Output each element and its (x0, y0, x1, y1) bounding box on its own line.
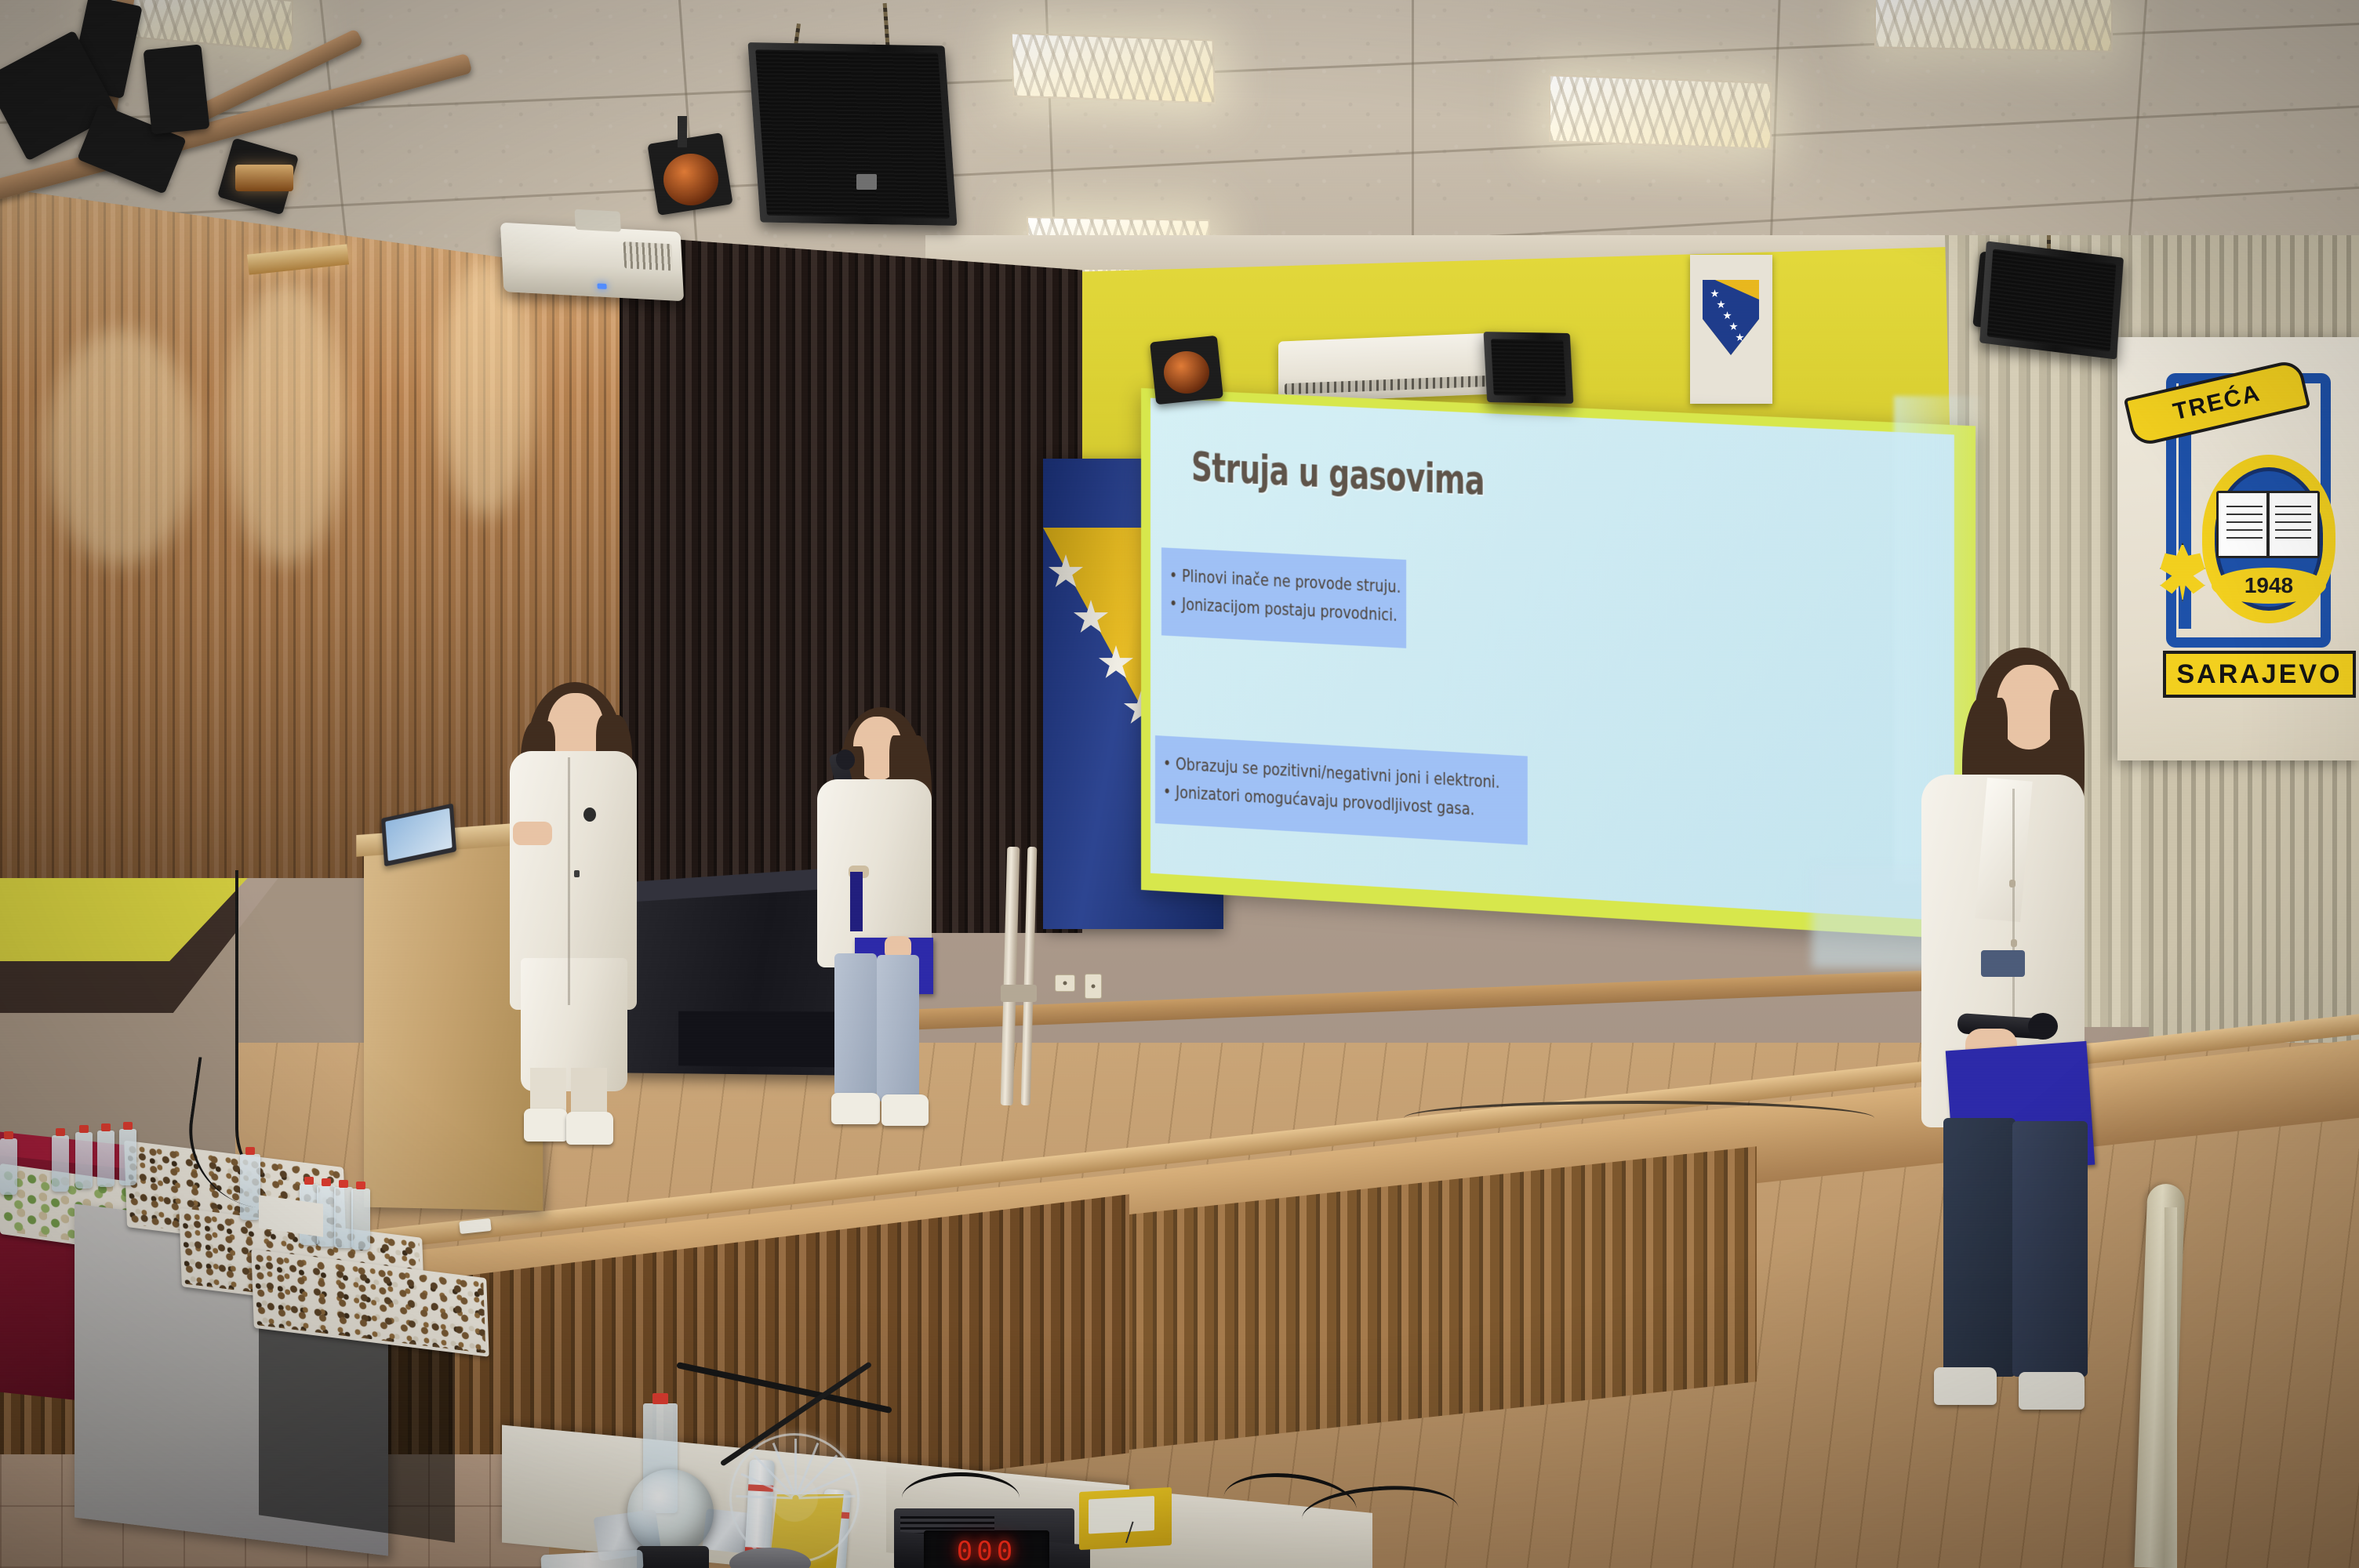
coat-button (2011, 939, 2017, 947)
wimshurst-disc (729, 1433, 860, 1563)
cable-bundle (902, 1472, 1020, 1523)
plasma-ball (627, 1469, 714, 1555)
slide-title: Struja u gasovima (1191, 444, 1711, 516)
book-icon (2216, 491, 2320, 558)
par-can-lens (1164, 351, 1209, 394)
projector-power-led (597, 283, 606, 289)
shoe (524, 1109, 568, 1142)
coat-button (2009, 880, 2016, 887)
coat-pocket-pen (583, 808, 596, 822)
ceiling-speaker (1484, 332, 1574, 404)
water-bottle (334, 1187, 353, 1248)
floor-cable (1404, 1101, 1874, 1135)
ceiling-light-panel (1874, 0, 2113, 53)
slide-bullet: • Plinovi inače ne provode struju. (1169, 567, 1348, 595)
air-conditioner-unit (1278, 332, 1498, 402)
ceiling-speaker (1979, 241, 2124, 359)
presenter-center (808, 704, 1012, 1143)
speaker-logo (856, 174, 877, 190)
shoe (2019, 1372, 2085, 1410)
led-digital-display: 000 (924, 1530, 1049, 1568)
par-can-light (144, 44, 210, 134)
slide-bullet-block-2: • Obrazuju se pozitivni/negativni joni i… (1155, 735, 1528, 845)
jeans (834, 953, 877, 1099)
water-bottle (52, 1135, 69, 1192)
emblem-year: 1948 (2212, 568, 2326, 604)
slide-bullet: • Jonizatori omogućavaju provodljivost g… (1163, 783, 1444, 818)
analog-meter (1079, 1487, 1172, 1550)
water-bottle (119, 1129, 136, 1185)
coat-seam (568, 757, 570, 1005)
coat-button (574, 870, 580, 877)
water-bottle (0, 1138, 17, 1195)
hand (513, 822, 552, 845)
bosnia-coat-of-arms-banner (1690, 255, 1772, 404)
ceiling-light-panel (1549, 74, 1772, 150)
shoe (1934, 1367, 1997, 1405)
ceiling-projector (500, 223, 684, 301)
water-bottle (75, 1132, 93, 1189)
wall-outlet (1055, 975, 1075, 992)
par-can-lens (663, 154, 718, 205)
led-display-value: 000 (924, 1530, 1049, 1568)
emblem-namebar: SARAJEVO (2163, 651, 2356, 698)
jeans (877, 955, 919, 1102)
plasma-ball-base (637, 1546, 709, 1568)
ceiling-light-panel (1011, 32, 1216, 103)
shoe (566, 1112, 613, 1145)
presenter-right (1827, 648, 2078, 1439)
folder-tucked (850, 872, 863, 931)
par-can-lens (235, 165, 293, 191)
jeans-dark (2012, 1121, 2088, 1377)
slide-bullet-block-1: • Plinovi inače ne provode struju. • Jon… (1161, 547, 1406, 648)
slide-bullet: • Jonizacijom postaju provodnici. (1169, 595, 1348, 623)
jeans-dark (1943, 1118, 2016, 1377)
mic-head (2028, 1013, 2058, 1040)
auditorium-scene: 1948 TREĆA SARAJEVO Struja u gasovima • … (0, 0, 2359, 1568)
ceiling-speaker (748, 42, 958, 226)
presenter-podium (502, 676, 737, 1146)
wall-outlet (1085, 974, 1102, 999)
water-bottle (351, 1189, 370, 1250)
light-hanger (678, 116, 687, 147)
school-emblem-banner: 1948 TREĆA SARAJEVO (2117, 337, 2359, 760)
emblem-city-text: SARAJEVO (2166, 654, 2353, 695)
water-bottle (97, 1131, 114, 1187)
sneaker (881, 1094, 929, 1126)
stage-railing-rail (2165, 1207, 2177, 1568)
jeans-waist (1981, 950, 2025, 977)
sneaker (831, 1093, 880, 1124)
